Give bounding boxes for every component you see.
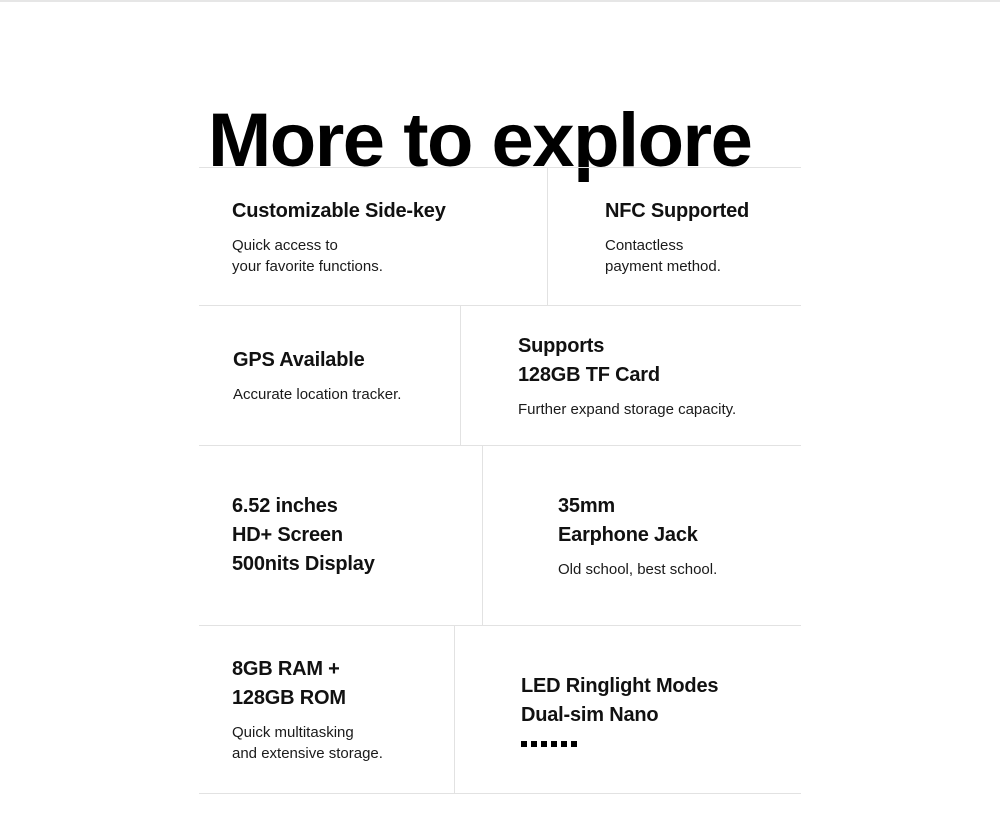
ellipsis-dot <box>551 741 557 747</box>
ellipsis-dot <box>561 741 567 747</box>
feature-grid: Customizable Side-key Quick access to yo… <box>199 167 801 794</box>
top-edge-rule <box>0 0 1000 2</box>
feature-cell-gps: GPS Available Accurate location tracker. <box>199 306 461 445</box>
feature-title: 6.52 inches HD+ Screen 500nits Display <box>232 492 483 579</box>
feature-cell-tf-card: Supports 128GB TF Card Further expand st… <box>461 306 801 445</box>
feature-description: Further expand storage capacity. <box>518 399 801 420</box>
ellipsis-dots-icon <box>521 741 801 747</box>
feature-row: GPS Available Accurate location tracker.… <box>199 306 801 446</box>
feature-title: Supports 128GB TF Card <box>518 332 801 390</box>
feature-cell-display: 6.52 inches HD+ Screen 500nits Display <box>199 446 483 625</box>
feature-description: Quick multitasking and extensive storage… <box>232 722 455 764</box>
feature-description: Quick access to your favorite functions. <box>232 235 548 277</box>
feature-cell-earphone-jack: 35mm Earphone Jack Old school, best scho… <box>483 446 801 625</box>
ellipsis-dot <box>531 741 537 747</box>
feature-title: 8GB RAM + 128GB ROM <box>232 655 455 713</box>
feature-cell-nfc: NFC Supported Contactless payment method… <box>548 168 801 305</box>
feature-row: Customizable Side-key Quick access to yo… <box>199 168 801 306</box>
feature-cell-memory: 8GB RAM + 128GB ROM Quick multitasking a… <box>199 626 455 793</box>
feature-title: LED Ringlight Modes Dual-sim Nano <box>521 672 801 730</box>
ellipsis-dot <box>541 741 547 747</box>
feature-row: 8GB RAM + 128GB ROM Quick multitasking a… <box>199 626 801 794</box>
feature-title: Customizable Side-key <box>232 197 548 226</box>
feature-title: 35mm Earphone Jack <box>558 492 801 550</box>
feature-cell-ringlight: LED Ringlight Modes Dual-sim Nano <box>455 626 801 793</box>
ellipsis-dot <box>521 741 527 747</box>
feature-description: Accurate location tracker. <box>233 384 461 405</box>
feature-title: GPS Available <box>233 346 461 375</box>
feature-description: Old school, best school. <box>558 559 801 580</box>
feature-row: 6.52 inches HD+ Screen 500nits Display 3… <box>199 446 801 626</box>
feature-description: Contactless payment method. <box>605 235 801 277</box>
ellipsis-dot <box>571 741 577 747</box>
feature-title: NFC Supported <box>605 197 801 226</box>
feature-cell-side-key: Customizable Side-key Quick access to yo… <box>199 168 548 305</box>
